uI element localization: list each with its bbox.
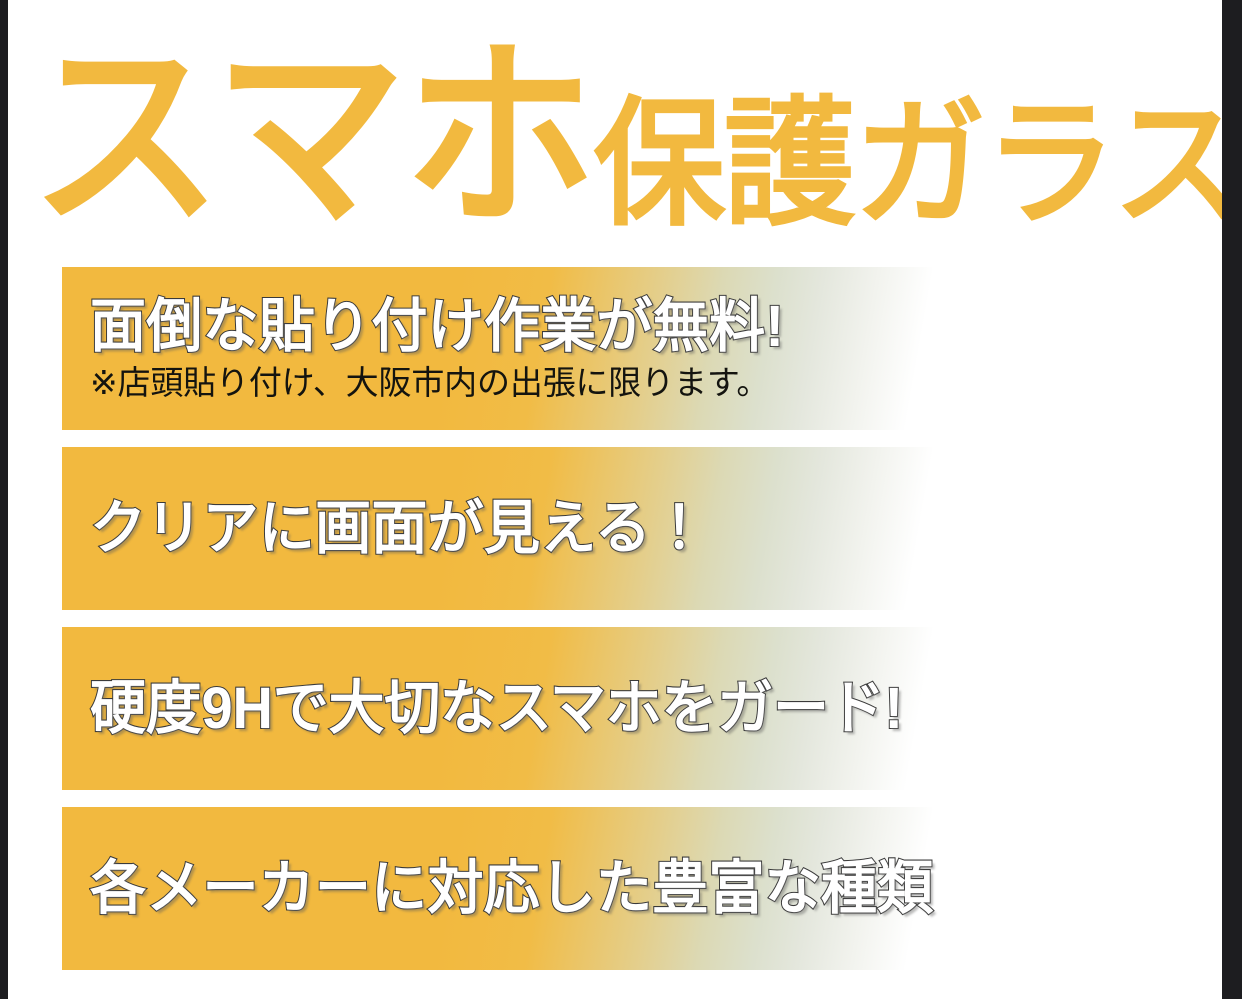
- feature-bar-1: 面倒な貼り付け作業が無料! ※店頭貼り付け、大阪市内の出張に限ります。: [62, 267, 942, 430]
- feature-bar-4-background: [62, 807, 942, 970]
- headline-primary: スマホ: [30, 35, 593, 239]
- feature-bar-3: 硬度9Hで大切なスマホをガード!: [62, 627, 942, 790]
- feature-bar-2: クリアに画面が見える！: [62, 447, 942, 610]
- headline-secondary: 保護ガラス: [593, 95, 1222, 239]
- feature-bar-4: 各メーカーに対応した豊富な種類: [62, 807, 942, 970]
- poster-canvas: スマホ 保護ガラス 面倒な貼り付け作業が無料! ※店頭貼り付け、大阪市内の出張に…: [8, 0, 1222, 999]
- feature-bar-3-background: [62, 627, 942, 790]
- feature-bar-2-background: [62, 447, 942, 610]
- feature-bar-1-background: [62, 267, 942, 430]
- page-title: スマホ 保護ガラス: [30, 14, 1210, 239]
- promo-poster: スマホ 保護ガラス 面倒な貼り付け作業が無料! ※店頭貼り付け、大阪市内の出張に…: [0, 0, 1242, 999]
